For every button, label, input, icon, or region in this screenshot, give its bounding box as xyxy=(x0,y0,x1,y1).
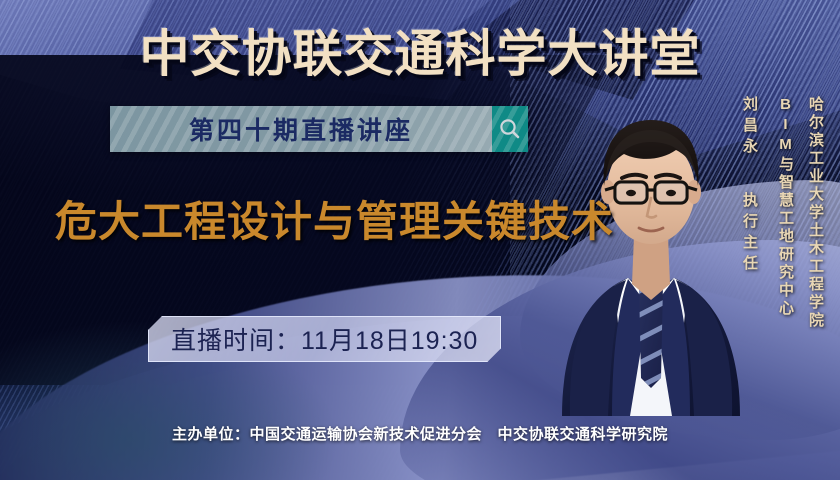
episode-bar[interactable]: 第四十期直播讲座 xyxy=(110,106,528,152)
speaker-name: 刘昌永 xyxy=(739,96,760,159)
webinar-poster: 中交协联交通科学大讲堂 第四十期直播讲座 危大工程设计与管理关键技术 直播时间：… xyxy=(0,0,840,480)
speaker-role: 执行主任 xyxy=(739,192,760,276)
search-icon xyxy=(498,117,522,141)
organizers-footer: 主办单位：中国交通运输协会新技术促进分会 中交协联交通科学研究院 xyxy=(0,423,840,444)
speaker-organization: 哈尔滨工业大学土木工程学院 xyxy=(805,96,826,330)
episode-label: 第四十期直播讲座 xyxy=(189,111,413,147)
lecture-title: 危大工程设计与管理关键技术 xyxy=(55,188,614,249)
speaker-portrait xyxy=(556,86,746,416)
speaker-center: BIM与智慧工地研究中心 xyxy=(775,96,796,318)
live-time-badge: 直播时间：11月18日19:30 xyxy=(148,316,501,362)
episode-label-box: 第四十期直播讲座 xyxy=(110,106,492,152)
search-button[interactable] xyxy=(492,106,528,152)
page-title: 中交协联交通科学大讲堂 xyxy=(0,14,840,86)
live-time-label: 直播时间：11月18日19:30 xyxy=(171,321,478,357)
